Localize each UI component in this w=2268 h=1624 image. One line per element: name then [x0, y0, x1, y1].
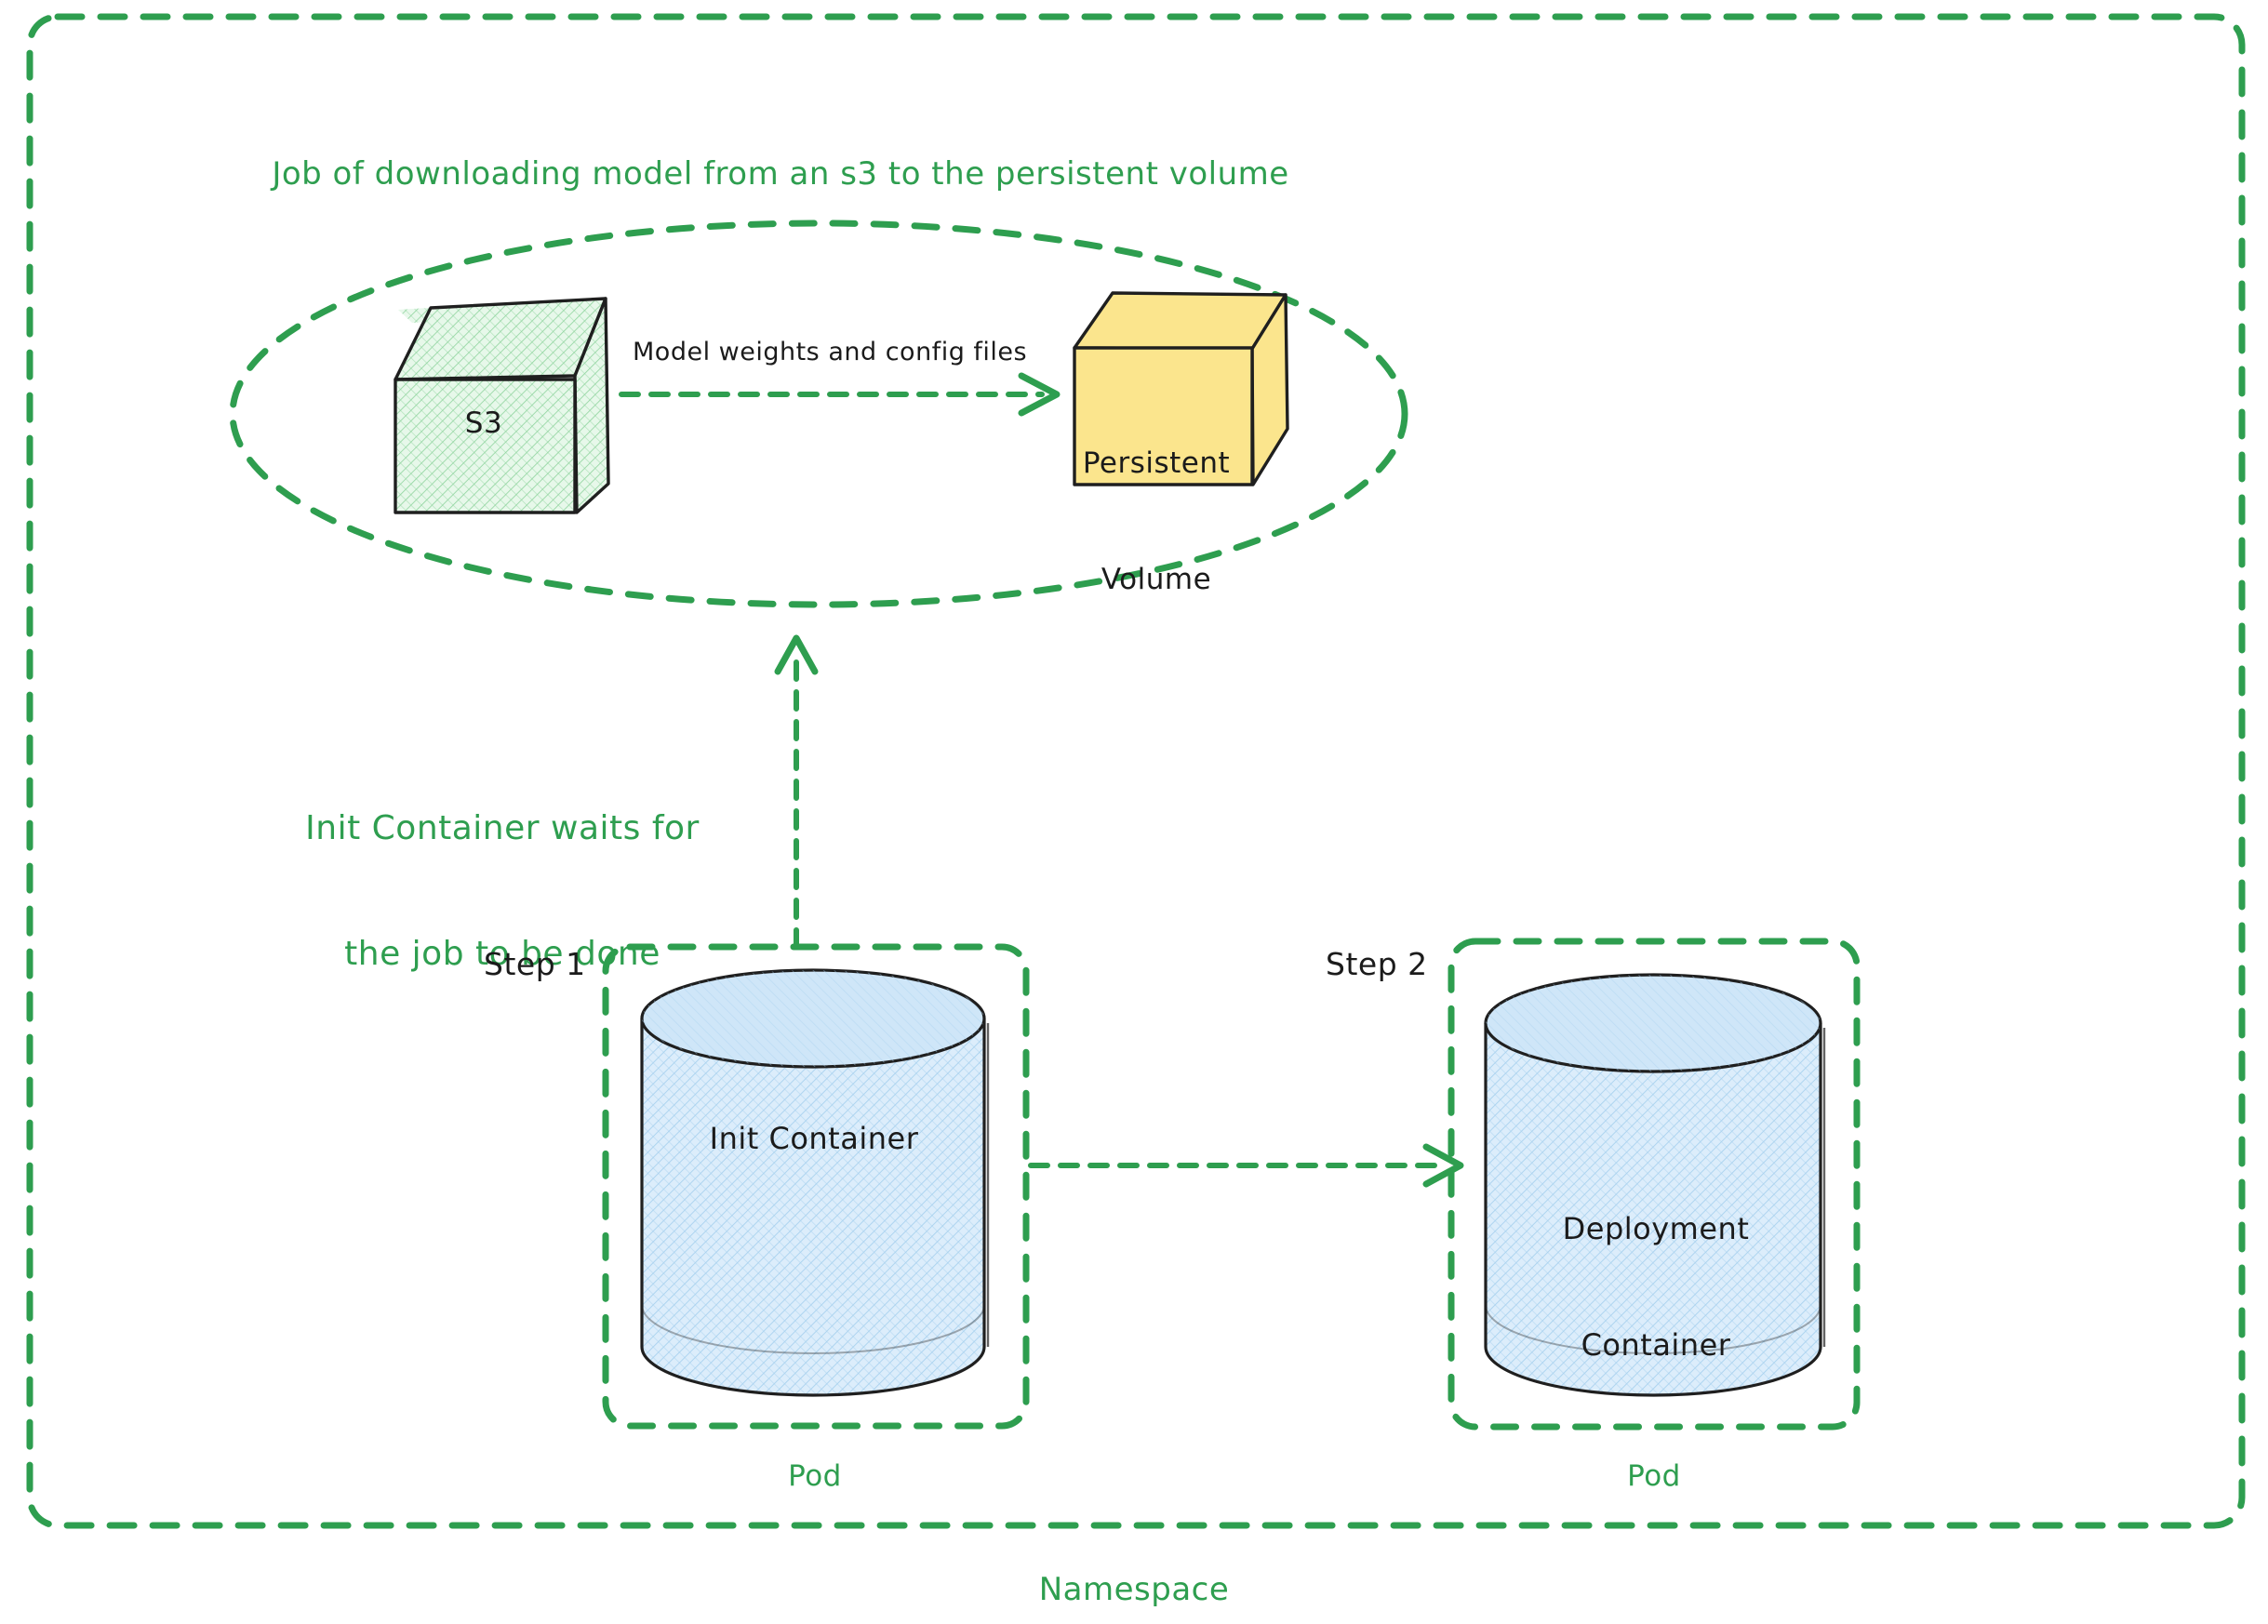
pod-2-label: Pod [1451, 1458, 1857, 1495]
step-transition-arrow [1031, 1147, 1461, 1184]
init-wait-note: Init Container waits for the job to be d… [242, 724, 763, 1058]
persistent-volume-label-line1: Persistent [1077, 445, 1235, 484]
step-1-label: Step 1 [484, 945, 586, 983]
persistent-volume-label: Persistent Volume [1077, 366, 1235, 678]
step-2-label: Step 2 [1326, 945, 1428, 983]
s3-cube-label: S3 [395, 406, 572, 442]
deployment-container-label: Deployment Container [1493, 1133, 1819, 1443]
init-wait-arrow [778, 638, 815, 947]
pod-1-label: Pod [605, 1458, 1025, 1495]
init-wait-note-line1: Init Container waits for [242, 807, 763, 849]
namespace-label: Namespace [0, 1570, 2268, 1610]
persistent-volume-label-line2: Volume [1077, 561, 1235, 600]
deployment-container-label-line2: Container [1493, 1326, 1819, 1365]
transfer-arrow-label: Model weights and config files [633, 337, 1023, 368]
deployment-container-label-line1: Deployment [1493, 1210, 1819, 1249]
transfer-arrow [621, 376, 1057, 413]
job-group-title: Job of downloading model from an s3 to t… [0, 154, 2268, 194]
diagram-canvas: Job of downloading model from an s3 to t… [0, 0, 2268, 1624]
init-container-label: Init Container [614, 1120, 1014, 1157]
